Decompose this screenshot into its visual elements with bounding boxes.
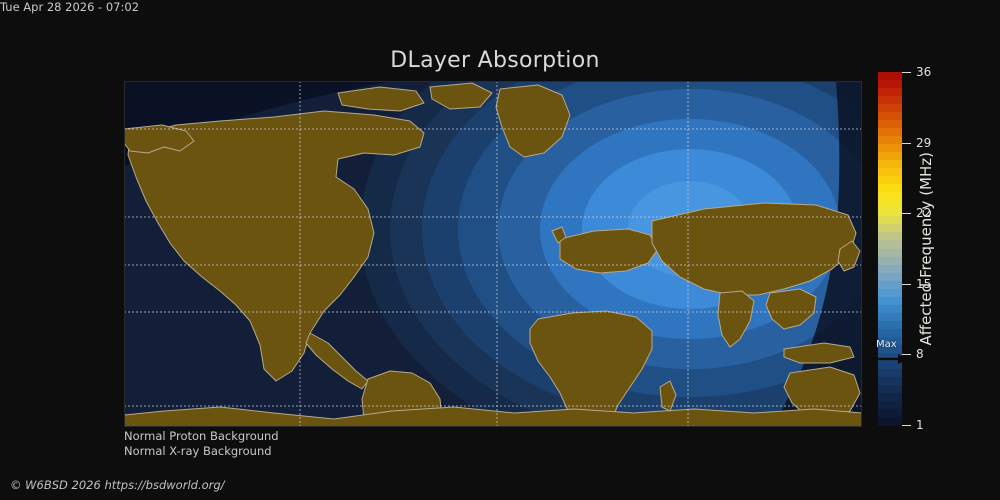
world-map[interactable] xyxy=(124,81,862,427)
colorbar-tick-mark xyxy=(902,72,911,73)
colorbar[interactable] xyxy=(878,72,902,425)
colorbar-tick-mark xyxy=(902,425,911,426)
colorbar-gradient xyxy=(878,72,902,425)
colorbar-tick-mark xyxy=(902,213,911,214)
page-title: DLayer Absorption xyxy=(0,48,990,73)
xray-background-label: Normal X-ray Background xyxy=(124,444,272,458)
proton-background-label: Normal Proton Background xyxy=(124,429,279,443)
timestamp-label: Tue Apr 28 2026 - 07:02 xyxy=(0,0,1000,14)
figure-root: DLayer Absorption xyxy=(0,0,1000,500)
colorbar-title: Affected Frequency (MHz) xyxy=(916,72,936,425)
copyright-label: © W6BSD 2026 https://bsdworld.org/ xyxy=(10,478,225,492)
map-canvas xyxy=(124,81,862,427)
colorbar-tick-mark xyxy=(902,284,911,285)
colorbar-tick-mark xyxy=(902,143,911,144)
colorbar-band xyxy=(878,417,902,426)
max-marker: Max xyxy=(868,340,908,366)
colorbar-title-text: Affected Frequency (MHz) xyxy=(917,152,935,346)
max-arrow-icon xyxy=(868,352,908,366)
max-marker-label: Max xyxy=(876,340,897,350)
